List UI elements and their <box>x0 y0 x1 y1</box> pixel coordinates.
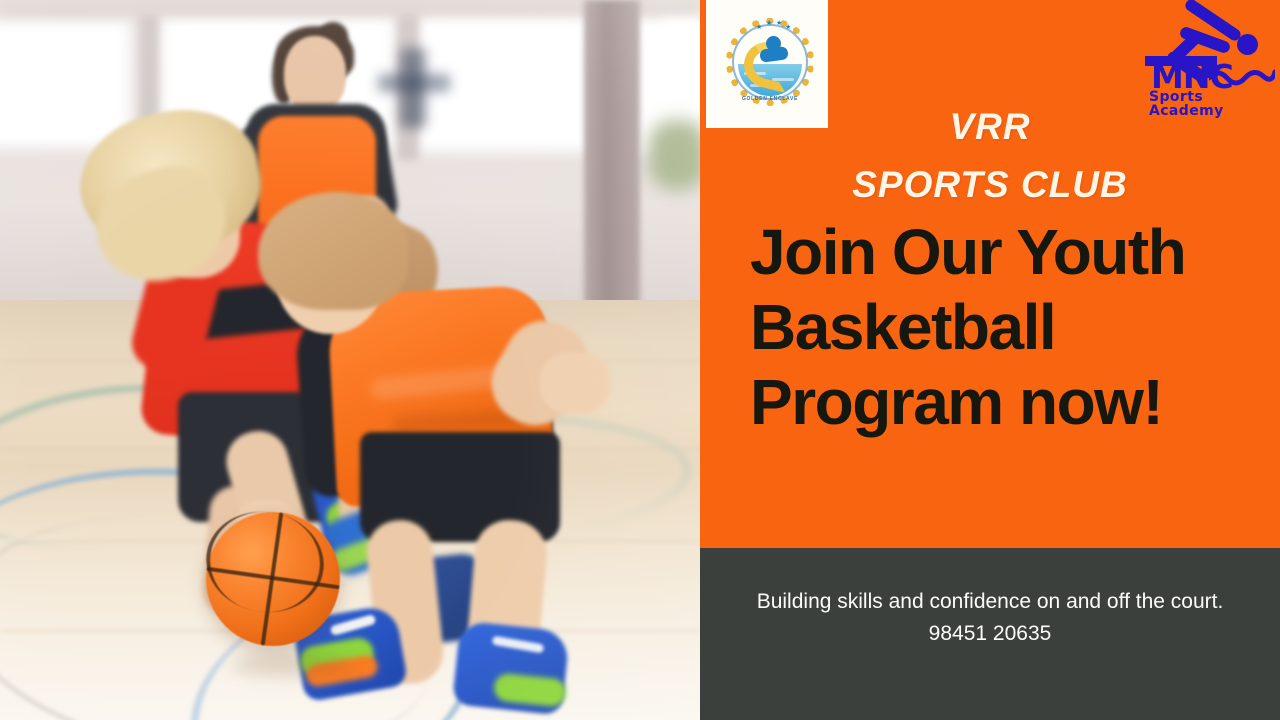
headline: Join Our Youth Basketball Program now! <box>750 215 1266 440</box>
basketball-photo <box>0 0 700 720</box>
orange-content-panel: ★ ★ ★ ★ GOLDEN ENCLAVE MNC Sports Academ… <box>700 0 1280 548</box>
club-name: VRR SPORTS CLUB <box>700 98 1280 214</box>
gym-window <box>0 20 131 148</box>
player-front-hand <box>540 352 610 414</box>
poster-root: ★ ★ ★ ★ GOLDEN ENCLAVE MNC Sports Academ… <box>0 0 1280 720</box>
player-back-head <box>284 36 346 112</box>
headline-line2: Basketball <box>750 290 1266 365</box>
window-dark-frame <box>378 74 450 92</box>
headline-line3: Program now! <box>750 365 1266 440</box>
player-front-hair <box>258 192 408 310</box>
club-name-line2: SPORTS CLUB <box>700 156 1280 214</box>
gym-pillar <box>584 0 640 330</box>
emblem-star-icon: ★ <box>785 24 791 31</box>
outdoor-foliage <box>648 120 700 190</box>
tagline-text: Building skills and confidence on and of… <box>700 586 1280 618</box>
emblem-star-icon: ★ <box>756 24 762 31</box>
footer-bar: Building skills and confidence on and of… <box>700 548 1280 720</box>
phone-number: 98451 20635 <box>700 618 1280 650</box>
headline-line1: Join Our Youth <box>750 215 1266 290</box>
emblem-star-icon: ★ <box>766 20 772 27</box>
emblem-figure-head <box>766 36 781 51</box>
basketball-icon <box>206 512 340 646</box>
club-name-line1: VRR <box>949 106 1030 147</box>
emblem-star-icon: ★ <box>776 20 782 27</box>
golden-enclave-emblem-icon: ★ ★ ★ ★ GOLDEN ENCLAVE <box>722 12 818 112</box>
swimmer-head-icon <box>1237 34 1258 55</box>
basketball-shadow <box>232 654 352 676</box>
